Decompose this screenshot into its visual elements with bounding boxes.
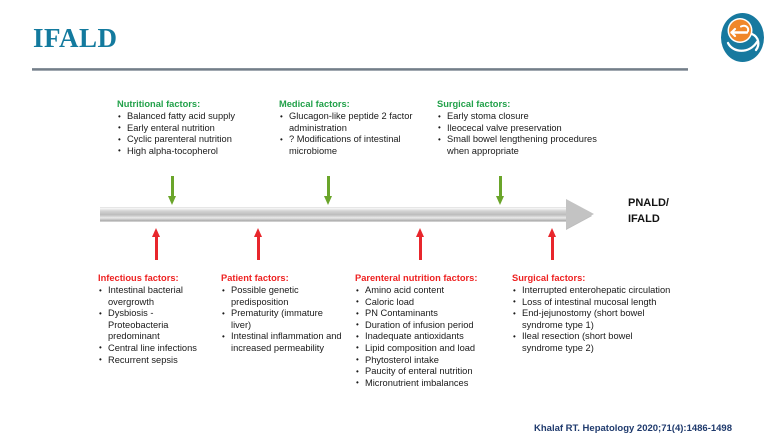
list-item: Intestinal bacterial overgrowth <box>98 285 216 308</box>
arrow-stem <box>327 176 330 198</box>
header-divider <box>32 68 688 71</box>
block-heading: Surgical factors: <box>437 98 612 110</box>
block-list: Balanced fatty acid supply Early enteral… <box>117 111 277 157</box>
list-item: Dysbiosis - Proteobacteria predominant <box>98 308 216 343</box>
arrow-tip <box>254 228 262 237</box>
arrow-down-icon <box>168 176 177 206</box>
list-item: Caloric load <box>355 297 505 309</box>
institution-logo-icon <box>719 12 766 63</box>
axis-outcome-label: PNALD/ IFALD <box>628 196 669 227</box>
list-item: Paucity of enteral nutrition <box>355 366 505 378</box>
block-heading: Medical factors: <box>279 98 431 110</box>
list-item: Small bowel lengthening procedures when … <box>437 134 612 157</box>
block-list: Intestinal bacterial overgrowth Dysbiosi… <box>98 285 216 366</box>
list-item: Lipid composition and load <box>355 343 505 355</box>
arrow-bar <box>100 207 570 222</box>
block-heading: Patient factors: <box>221 272 343 284</box>
arrow-up-icon <box>152 228 161 260</box>
citation-text: Khalaf RT. Hepatology 2020;71(4):1486-14… <box>534 423 732 434</box>
list-item: PN Contaminants <box>355 308 505 320</box>
arrow-up-icon <box>548 228 557 260</box>
block-list: Amino acid content Caloric load PN Conta… <box>355 285 505 389</box>
list-item: Duration of infusion period <box>355 320 505 332</box>
page-title: IFALD <box>33 25 118 52</box>
arrow-tip <box>548 228 556 237</box>
list-item: Central line infections <box>98 343 216 355</box>
timeline-arrow <box>100 203 620 225</box>
list-item: Inadequate antioxidants <box>355 331 505 343</box>
arrow-stem <box>551 237 554 260</box>
block-heading: Infectious factors: <box>98 272 216 284</box>
axis-label-line-2: IFALD <box>628 212 669 228</box>
arrow-stem <box>155 237 158 260</box>
arrow-tip <box>416 228 424 237</box>
list-item: ? Modifications of intestinal microbiome <box>279 134 431 157</box>
list-item: Balanced fatty acid supply <box>117 111 277 123</box>
block-list: Interrupted enterohepatic circulation Lo… <box>512 285 672 355</box>
arrow-up-icon <box>416 228 425 260</box>
arrow-stem <box>171 176 174 198</box>
list-item: Possible genetic predisposition <box>221 285 343 308</box>
block-list: Possible genetic predisposition Prematur… <box>221 285 343 355</box>
protective-factor-block-surgical: Surgical factors: Early stoma closure Il… <box>437 98 612 157</box>
list-item: Prematurity (immature liver) <box>221 308 343 331</box>
block-list: Early stoma closure Ileocecal valve pres… <box>437 111 612 157</box>
block-heading: Surgical factors: <box>512 272 672 284</box>
arrow-stem <box>419 237 422 260</box>
list-item: Early enteral nutrition <box>117 123 277 135</box>
list-item: End-jejunostomy (short bowel syndrome ty… <box>512 308 672 331</box>
risk-factor-block-parenteral-nutrition: Parenteral nutrition factors: Amino acid… <box>355 272 505 389</box>
list-item: Glucagon-like peptide 2 factor administr… <box>279 111 431 134</box>
slide-root: IFALD Nutritional factors: Balanced fatt… <box>0 0 783 443</box>
list-item: Interrupted enterohepatic circulation <box>512 285 672 297</box>
block-list: Glucagon-like peptide 2 factor administr… <box>279 111 431 157</box>
list-item: Micronutrient imbalances <box>355 378 505 390</box>
protective-factor-block-medical: Medical factors: Glucagon-like peptide 2… <box>279 98 431 157</box>
block-heading: Parenteral nutrition factors: <box>355 272 505 284</box>
list-item: Cyclic parenteral nutrition <box>117 134 277 146</box>
list-item: Phytosterol intake <box>355 355 505 367</box>
right-arrow-icon <box>566 199 594 229</box>
arrow-stem <box>499 176 502 198</box>
arrow-up-icon <box>254 228 263 260</box>
risk-factor-block-surgical: Surgical factors: Interrupted enterohepa… <box>512 272 672 355</box>
list-item: Intestinal inflammation and increased pe… <box>221 331 343 354</box>
list-item: Ileocecal valve preservation <box>437 123 612 135</box>
risk-factor-block-patient: Patient factors: Possible genetic predis… <box>221 272 343 355</box>
list-item: Amino acid content <box>355 285 505 297</box>
list-item: Recurrent sepsis <box>98 355 216 367</box>
list-item: Loss of intestinal mucosal length <box>512 297 672 309</box>
list-item: Early stoma closure <box>437 111 612 123</box>
axis-label-line-1: PNALD/ <box>628 196 669 212</box>
list-item: High alpha-tocopherol <box>117 146 277 158</box>
list-item: Ileal resection (short bowel syndrome ty… <box>512 331 672 354</box>
arrow-stem <box>257 237 260 260</box>
arrow-tip <box>152 228 160 237</box>
risk-factor-block-infectious: Infectious factors: Intestinal bacterial… <box>98 272 216 366</box>
block-heading: Nutritional factors: <box>117 98 277 110</box>
protective-factor-block-nutritional: Nutritional factors: Balanced fatty acid… <box>117 98 277 157</box>
arrow-down-icon <box>324 176 333 206</box>
arrow-down-icon <box>496 176 505 206</box>
